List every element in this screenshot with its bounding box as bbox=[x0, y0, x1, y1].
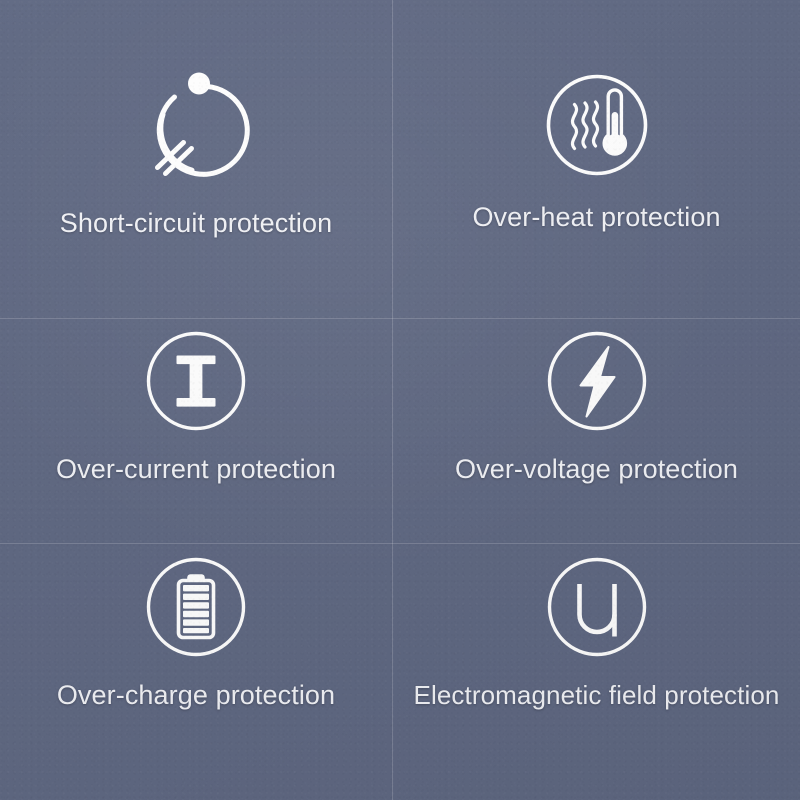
protection-features-panel: Short-circuit protection Over-heat prote… bbox=[0, 0, 800, 800]
grid-divider-horizontal-1 bbox=[0, 318, 800, 319]
feature-label-over-charge: Over-charge protection bbox=[57, 680, 335, 711]
feature-label-short-circuit: Short-circuit protection bbox=[60, 208, 333, 239]
feature-label-electromagnetic-field: Electromagnetic field protection bbox=[414, 680, 780, 711]
battery-full-icon bbox=[145, 556, 247, 658]
feature-cell-over-current[interactable]: Over-current protection bbox=[0, 330, 392, 485]
feature-cell-over-charge[interactable]: Over-charge protection bbox=[0, 556, 392, 711]
letter-u-icon bbox=[546, 556, 648, 658]
short-circuit-icon bbox=[141, 72, 251, 184]
feature-cell-over-heat[interactable]: Over-heat protection bbox=[393, 72, 800, 233]
feature-label-over-heat: Over-heat protection bbox=[472, 202, 720, 233]
feature-cell-electromagnetic-field[interactable]: Electromagnetic field protection bbox=[393, 556, 800, 711]
grid-divider-horizontal-2 bbox=[0, 543, 800, 544]
feature-label-over-voltage: Over-voltage protection bbox=[455, 454, 738, 485]
current-letter-i-icon bbox=[145, 330, 247, 432]
lightning-bolt-icon bbox=[546, 330, 648, 432]
feature-cell-over-voltage[interactable]: Over-voltage protection bbox=[393, 330, 800, 485]
thermometer-heat-icon bbox=[544, 72, 650, 178]
feature-cell-short-circuit[interactable]: Short-circuit protection bbox=[0, 72, 392, 239]
feature-label-over-current: Over-current protection bbox=[56, 454, 336, 485]
